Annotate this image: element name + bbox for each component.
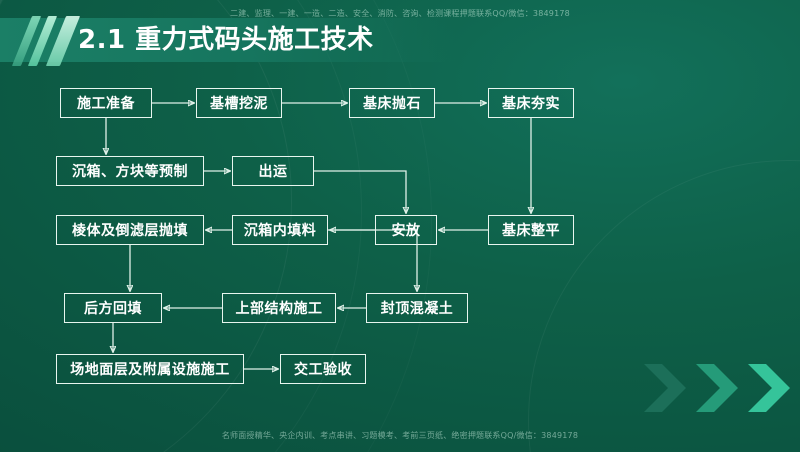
flow-node-n14[interactable]: 场地面层及附属设施施工 (56, 354, 244, 384)
page-title: 2.1 重力式码头施工技术 (78, 20, 374, 60)
flow-node-n8[interactable]: 沉箱内填料 (232, 215, 328, 245)
flow-node-n15[interactable]: 交工验收 (280, 354, 366, 384)
flow-node-n7[interactable]: 棱体及倒滤层抛填 (56, 215, 204, 245)
flow-node-n12[interactable]: 上部结构施工 (222, 293, 336, 323)
flow-node-label: 施工准备 (77, 93, 135, 113)
slide-canvas: 二建、监理、一建、一造、二造、安全、消防、咨询、检测课程押题联系QQ/微信：38… (0, 0, 800, 452)
flow-node-n6[interactable]: 出运 (232, 156, 314, 186)
flow-node-label: 沉箱、方块等预制 (72, 161, 188, 181)
flow-node-n5[interactable]: 沉箱、方块等预制 (56, 156, 204, 186)
flow-node-label: 封顶混凝土 (381, 298, 454, 318)
flow-node-n3[interactable]: 基床抛石 (349, 88, 435, 118)
flow-node-label: 基床夯实 (502, 93, 560, 113)
flow-node-n1[interactable]: 施工准备 (60, 88, 152, 118)
flow-node-n4[interactable]: 基床夯实 (488, 88, 574, 118)
chevron-right-icon (642, 362, 688, 414)
flow-node-label: 基床抛石 (363, 93, 421, 113)
flow-node-n9[interactable]: 安放 (375, 215, 437, 245)
flow-node-label: 沉箱内填料 (244, 220, 317, 240)
chevron-right-icon (694, 362, 740, 414)
flow-node-label: 基床整平 (502, 220, 560, 240)
flow-node-label: 后方回填 (84, 298, 142, 318)
flow-node-n11[interactable]: 后方回填 (64, 293, 162, 323)
flow-node-n2[interactable]: 基槽挖泥 (196, 88, 282, 118)
flow-node-label: 基槽挖泥 (210, 93, 268, 113)
watermark-bottom: 名师面授精华、央企内训、考点串讲、习题模考、考前三页纸、绝密押题联系QQ/微信：… (0, 430, 800, 441)
chevron-decoration (642, 362, 792, 414)
chevron-right-icon (746, 362, 792, 414)
flow-node-n13[interactable]: 封顶混凝土 (366, 293, 468, 323)
connector-n6-to-n9 (314, 171, 406, 213)
flow-node-label: 交工验收 (294, 359, 352, 379)
flow-node-label: 棱体及倒滤层抛填 (72, 220, 188, 240)
flow-node-label: 场地面层及附属设施施工 (70, 359, 230, 379)
flow-node-n10[interactable]: 基床整平 (488, 215, 574, 245)
flow-node-label: 上部结构施工 (236, 298, 323, 318)
flowchart: 施工准备基槽挖泥基床抛石基床夯实沉箱、方块等预制出运棱体及倒滤层抛填沉箱内填料安… (0, 62, 800, 392)
flow-node-label: 出运 (259, 161, 288, 181)
flow-node-label: 安放 (392, 220, 421, 240)
